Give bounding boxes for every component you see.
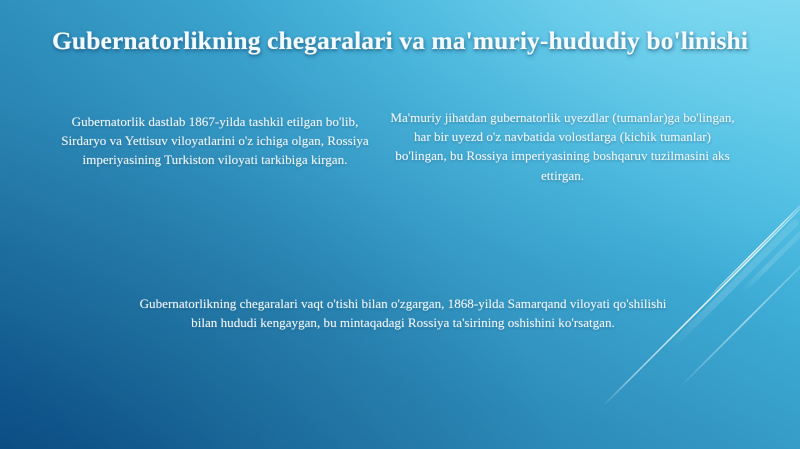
paragraph-bottom: Gubernatorlikning chegaralari vaqt o'tis… [138, 294, 668, 332]
slide-title: Gubernatorlikning chegaralari va ma'muri… [0, 26, 800, 56]
paragraph-left: Gubernatorlik dastlab 1867-yilda tashkil… [50, 112, 380, 170]
slide-content: Gubernatorlikning chegaralari va ma'muri… [0, 0, 800, 449]
presentation-slide: Gubernatorlikning chegaralari va ma'muri… [0, 0, 800, 449]
paragraph-right: Ma'muriy jihatdan gubernatorlik uyezdlar… [390, 108, 735, 185]
